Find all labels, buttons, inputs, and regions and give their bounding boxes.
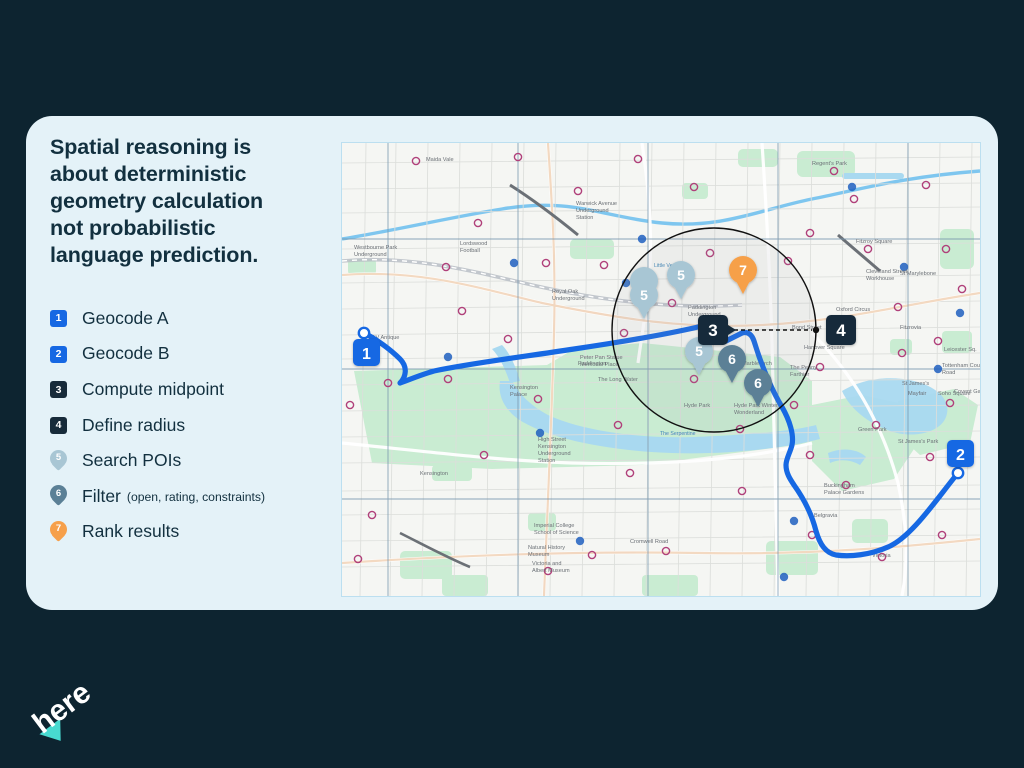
step-badge-7: 7 [50, 521, 67, 538]
svg-text:Workhouse: Workhouse [866, 276, 894, 282]
svg-text:School of Science: School of Science [534, 530, 579, 536]
svg-text:Westbourne Park: Westbourne Park [354, 245, 397, 251]
step-label-6: Filter [82, 488, 121, 506]
svg-text:Covent Garden: Covent Garden [954, 389, 980, 395]
badge-wrap: 6 [50, 485, 78, 508]
here-logo-mark: here [14, 672, 124, 742]
svg-text:Victoria and: Victoria and [532, 561, 561, 567]
svg-text:St James's Park: St James's Park [898, 439, 938, 445]
map-panel[interactable]: Maida Vale Paddington Fitzrovia Hyde Par… [341, 142, 981, 597]
svg-text:6: 6 [754, 375, 762, 391]
legend-item-define-radius[interactable]: 4 Define radius [50, 408, 330, 444]
svg-text:Fitzroy Square: Fitzroy Square [856, 239, 892, 245]
step-label-4: Define radius [82, 417, 185, 435]
svg-text:Belgravia: Belgravia [814, 513, 838, 519]
svg-text:Oxford Circus: Oxford Circus [836, 307, 870, 313]
map-pin-icon-5: 5 [50, 450, 67, 473]
steps-legend: 1 Geocode A 2 Geocode B 3 Compute m [50, 301, 330, 550]
slide-root: Spatial reasoning is about deterministic… [0, 0, 1024, 768]
legend-item-rank-results[interactable]: 7 Rank results [50, 514, 330, 550]
step-badge-1: 1 [50, 310, 67, 327]
step-badge-4: 4 [50, 417, 67, 434]
svg-text:Fitzrovia: Fitzrovia [900, 325, 922, 331]
here-logo: here [14, 672, 124, 742]
svg-text:Palace Gardens: Palace Gardens [824, 490, 864, 496]
legend-item-compute-midpoint[interactable]: 3 Compute midpoint [50, 372, 330, 408]
svg-text:Museum: Museum [528, 552, 550, 558]
badge-wrap: 2 [50, 346, 78, 363]
svg-text:Buckingham: Buckingham [824, 483, 855, 489]
svg-text:Regent's Park: Regent's Park [812, 161, 847, 167]
svg-text:Warwick Avenue: Warwick Avenue [576, 201, 617, 207]
svg-text:The Serpentine: The Serpentine [660, 431, 696, 437]
svg-text:Underground: Underground [354, 252, 387, 258]
svg-text:Kensington: Kensington [510, 385, 538, 391]
route-end-dot [953, 468, 963, 478]
badge-wrap: 1 [50, 310, 78, 327]
map-pin-icon-6: 6 [50, 485, 67, 508]
step-badge-5: 5 [50, 450, 67, 467]
svg-text:St Marylebone: St Marylebone [900, 271, 936, 277]
step-label-1: Geocode A [82, 310, 169, 328]
badge-wrap: 4 [50, 417, 78, 434]
svg-text:Natural History: Natural History [528, 545, 565, 551]
svg-text:Maida Vale: Maida Vale [426, 157, 454, 163]
svg-text:Road: Road [942, 370, 955, 376]
svg-text:Station: Station [576, 215, 593, 221]
left-column: Spatial reasoning is about deterministic… [50, 134, 330, 550]
svg-text:Leicester Sq.: Leicester Sq. [944, 347, 977, 353]
step-sublabel-6: (open, rating, constraints) [127, 491, 265, 503]
svg-text:Station: Station [538, 458, 555, 464]
route-start-dot [359, 328, 369, 338]
svg-text:5: 5 [640, 287, 648, 303]
step-badge-2: 2 [50, 346, 67, 363]
step-badge-6: 6 [50, 485, 67, 502]
svg-text:5: 5 [677, 267, 685, 283]
svg-text:Royal Oak: Royal Oak [552, 289, 578, 295]
step-label-7: Rank results [82, 523, 179, 541]
map-marker-define-radius[interactable]: 4 [826, 315, 856, 345]
svg-text:Football: Football [460, 248, 480, 254]
svg-text:Albert Museum: Albert Museum [532, 568, 570, 574]
page-title: Spatial reasoning is about deterministic… [50, 134, 330, 269]
svg-text:High Street: High Street [538, 437, 566, 443]
svg-text:5: 5 [695, 343, 703, 359]
svg-text:Palace: Palace [510, 392, 527, 398]
svg-text:4: 4 [836, 321, 846, 340]
content-card: Spatial reasoning is about deterministic… [26, 116, 998, 610]
badge-wrap: 7 [50, 521, 78, 544]
legend-item-filter[interactable]: 6 Filter (open, rating, constraints) [50, 479, 330, 515]
svg-text:1: 1 [362, 346, 371, 363]
svg-text:7: 7 [739, 262, 747, 278]
svg-text:Tottenham Court: Tottenham Court [942, 363, 980, 369]
svg-text:Green Park: Green Park [858, 427, 887, 433]
legend-item-search-pois[interactable]: 5 Search POIs [50, 443, 330, 479]
svg-text:St James's: St James's [902, 381, 929, 387]
step-label-5: Search POIs [82, 452, 181, 470]
svg-text:Cromwell Road: Cromwell Road [630, 539, 668, 545]
step-label-3: Compute midpoint [82, 381, 224, 399]
map-canvas[interactable]: Maida Vale Paddington Fitzrovia Hyde Par… [342, 143, 980, 596]
svg-text:6: 6 [728, 351, 736, 367]
svg-text:Underground: Underground [552, 296, 585, 302]
badge-wrap: 3 [50, 381, 78, 398]
badge-wrap: 5 [50, 450, 78, 473]
svg-text:Imperial College: Imperial College [534, 523, 574, 529]
svg-text:Kensington: Kensington [538, 444, 566, 450]
here-logo-wordmark: here [27, 676, 97, 740]
step-badge-3: 3 [50, 381, 67, 398]
svg-text:Kensington: Kensington [420, 471, 448, 477]
legend-item-geocode-b[interactable]: 2 Geocode B [50, 336, 330, 372]
map-pin-icon-7: 7 [50, 521, 67, 544]
svg-text:3: 3 [708, 321, 717, 340]
svg-text:Underground: Underground [576, 208, 609, 214]
legend-item-geocode-a[interactable]: 1 Geocode A [50, 301, 330, 337]
svg-text:2: 2 [956, 447, 965, 464]
map-marker-geocode-a[interactable]: 1 [353, 339, 380, 366]
svg-text:Mayfair: Mayfair [908, 391, 926, 397]
svg-text:Lordswood: Lordswood [460, 241, 487, 247]
step-label-2: Geocode B [82, 345, 170, 363]
svg-text:Underground: Underground [538, 451, 571, 457]
map-marker-geocode-b[interactable]: 2 [947, 440, 974, 467]
svg-text:Memorial Place: Memorial Place [580, 362, 619, 368]
